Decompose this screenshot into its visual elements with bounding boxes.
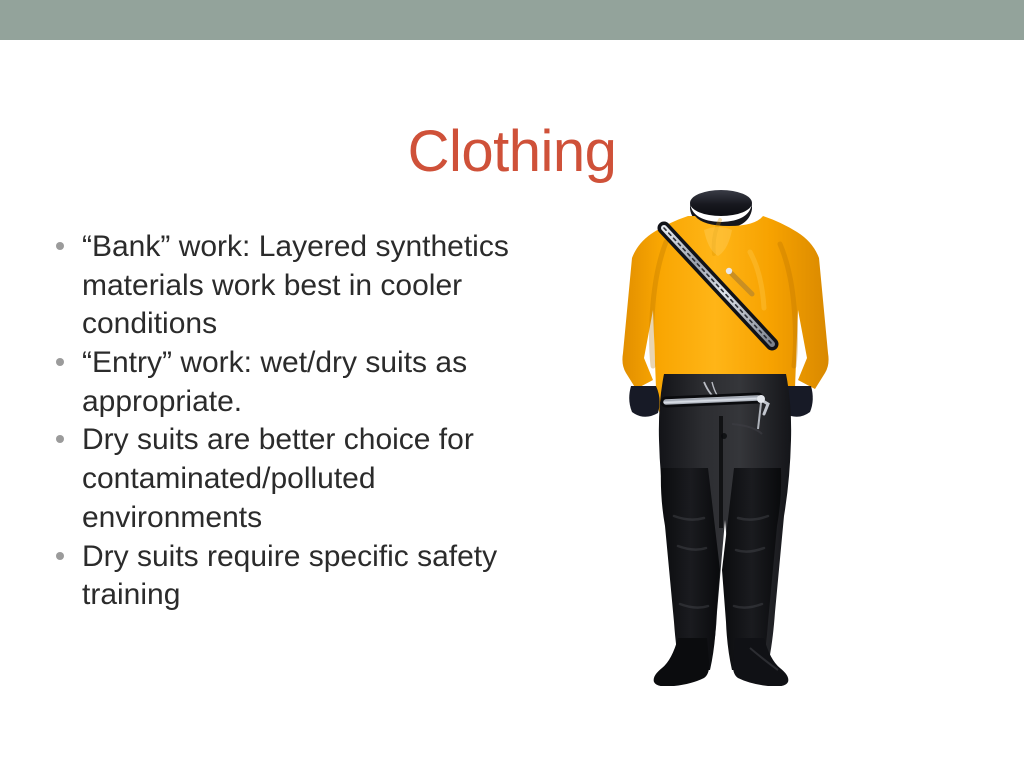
list-item: Dry suits are better choice for contamin… [52, 421, 522, 537]
drypants [656, 374, 791, 670]
page-title: Clothing [0, 123, 1024, 181]
bullet-list: “Bank” work: Layered synthetics material… [52, 228, 522, 615]
slide-canvas: Clothing “Bank” work: Layered synthetics… [0, 0, 1024, 768]
list-item: “Entry” work: wet/dry suits as appropria… [52, 344, 522, 421]
list-item-label: Dry suits require specific safety traini… [82, 538, 522, 615]
bullet-dot-icon [56, 358, 64, 366]
drysuit-image [620, 186, 882, 686]
list-item: “Bank” work: Layered synthetics material… [52, 228, 522, 344]
bullet-dot-icon [56, 435, 64, 443]
list-item-label: Dry suits are better choice for contamin… [82, 421, 522, 537]
drysuit-illustration [620, 186, 882, 686]
list-item-label: “Entry” work: wet/dry suits as appropria… [82, 344, 522, 421]
bullet-dot-icon [56, 552, 64, 560]
top-decorative-band [0, 0, 1024, 40]
list-item: Dry suits require specific safety traini… [52, 538, 522, 615]
bullet-dot-icon [56, 242, 64, 250]
list-item-label: “Bank” work: Layered synthetics material… [82, 228, 522, 344]
